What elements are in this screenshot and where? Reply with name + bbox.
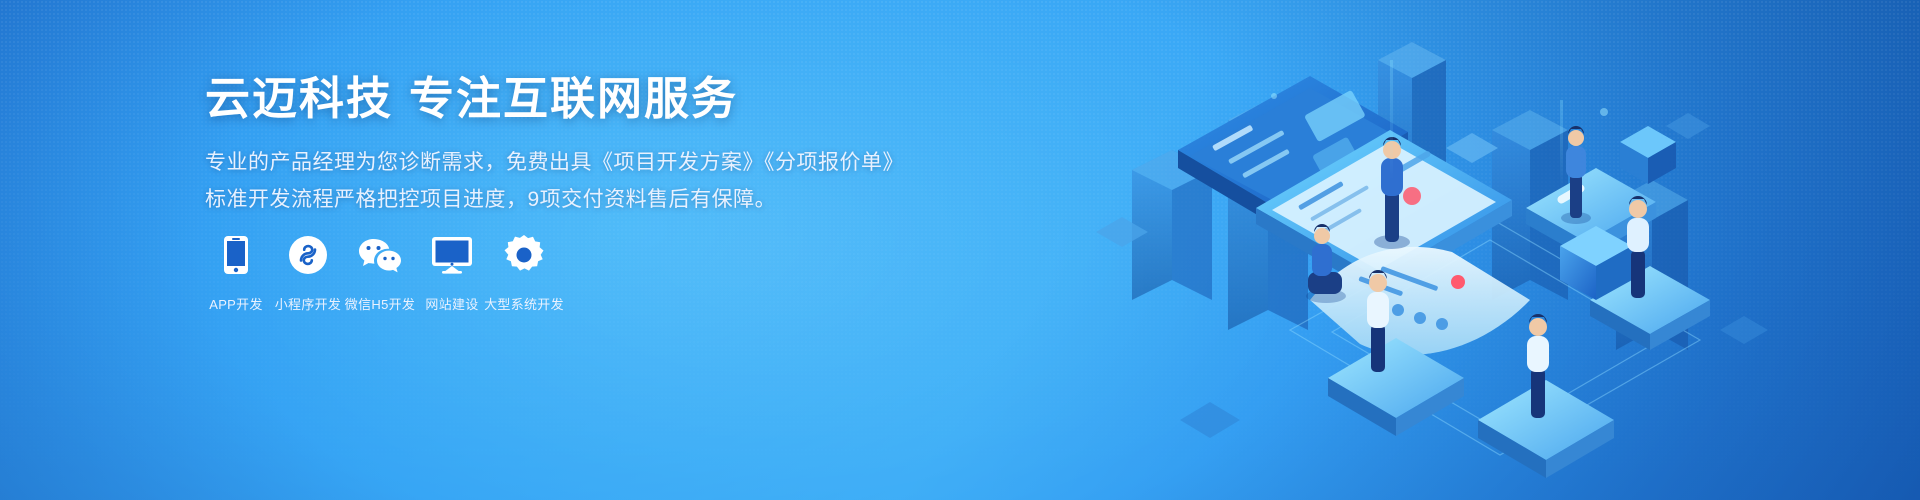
pedestal-right xyxy=(1478,380,1614,478)
gear-icon xyxy=(504,232,544,278)
banner-content: 云迈科技专注互联网服务 专业的产品经理为您诊断需求，免费出具《项目开发方案》《分… xyxy=(205,0,1105,500)
headline-part-2: 专注互联网服务 xyxy=(409,73,738,124)
service-label: APP开发 xyxy=(209,294,263,313)
service-item-website[interactable]: 网站建设 xyxy=(416,232,488,313)
hero-banner: 云迈科技专注互联网服务 专业的产品经理为您诊断需求，免费出具《项目开发方案》《分… xyxy=(0,0,1920,500)
service-label: 大型系统开发 xyxy=(484,294,564,313)
service-label: 微信H5开发 xyxy=(345,294,415,313)
service-item-wechat-h5[interactable]: 微信H5开发 xyxy=(344,232,416,313)
service-item-mini-program[interactable]: 小程序开发 xyxy=(272,232,344,313)
monitor-icon xyxy=(431,232,473,278)
banner-subtitle-line-1: 专业的产品经理为您诊断需求，免费出具《项目开发方案》《分项报价单》 xyxy=(205,146,904,176)
banner-headline: 云迈科技专注互联网服务 xyxy=(205,76,738,121)
mobile-phone-icon xyxy=(223,232,249,278)
service-list: APP开发 小程序开发 微信H5开发 网站建设 xyxy=(200,232,560,313)
service-item-app[interactable]: APP开发 xyxy=(200,232,272,313)
illustration-container xyxy=(1060,0,1920,500)
service-label: 小程序开发 xyxy=(275,294,342,313)
service-item-large-system[interactable]: 大型系统开发 xyxy=(488,232,560,313)
service-label: 网站建设 xyxy=(425,294,478,313)
mini-program-icon xyxy=(288,232,328,278)
wechat-icon xyxy=(357,232,403,278)
banner-subtitle-line-2: 标准开发流程严格把控项目进度，9项交付资料售后有保障。 xyxy=(205,183,776,213)
headline-part-1: 云迈科技 xyxy=(205,73,393,124)
